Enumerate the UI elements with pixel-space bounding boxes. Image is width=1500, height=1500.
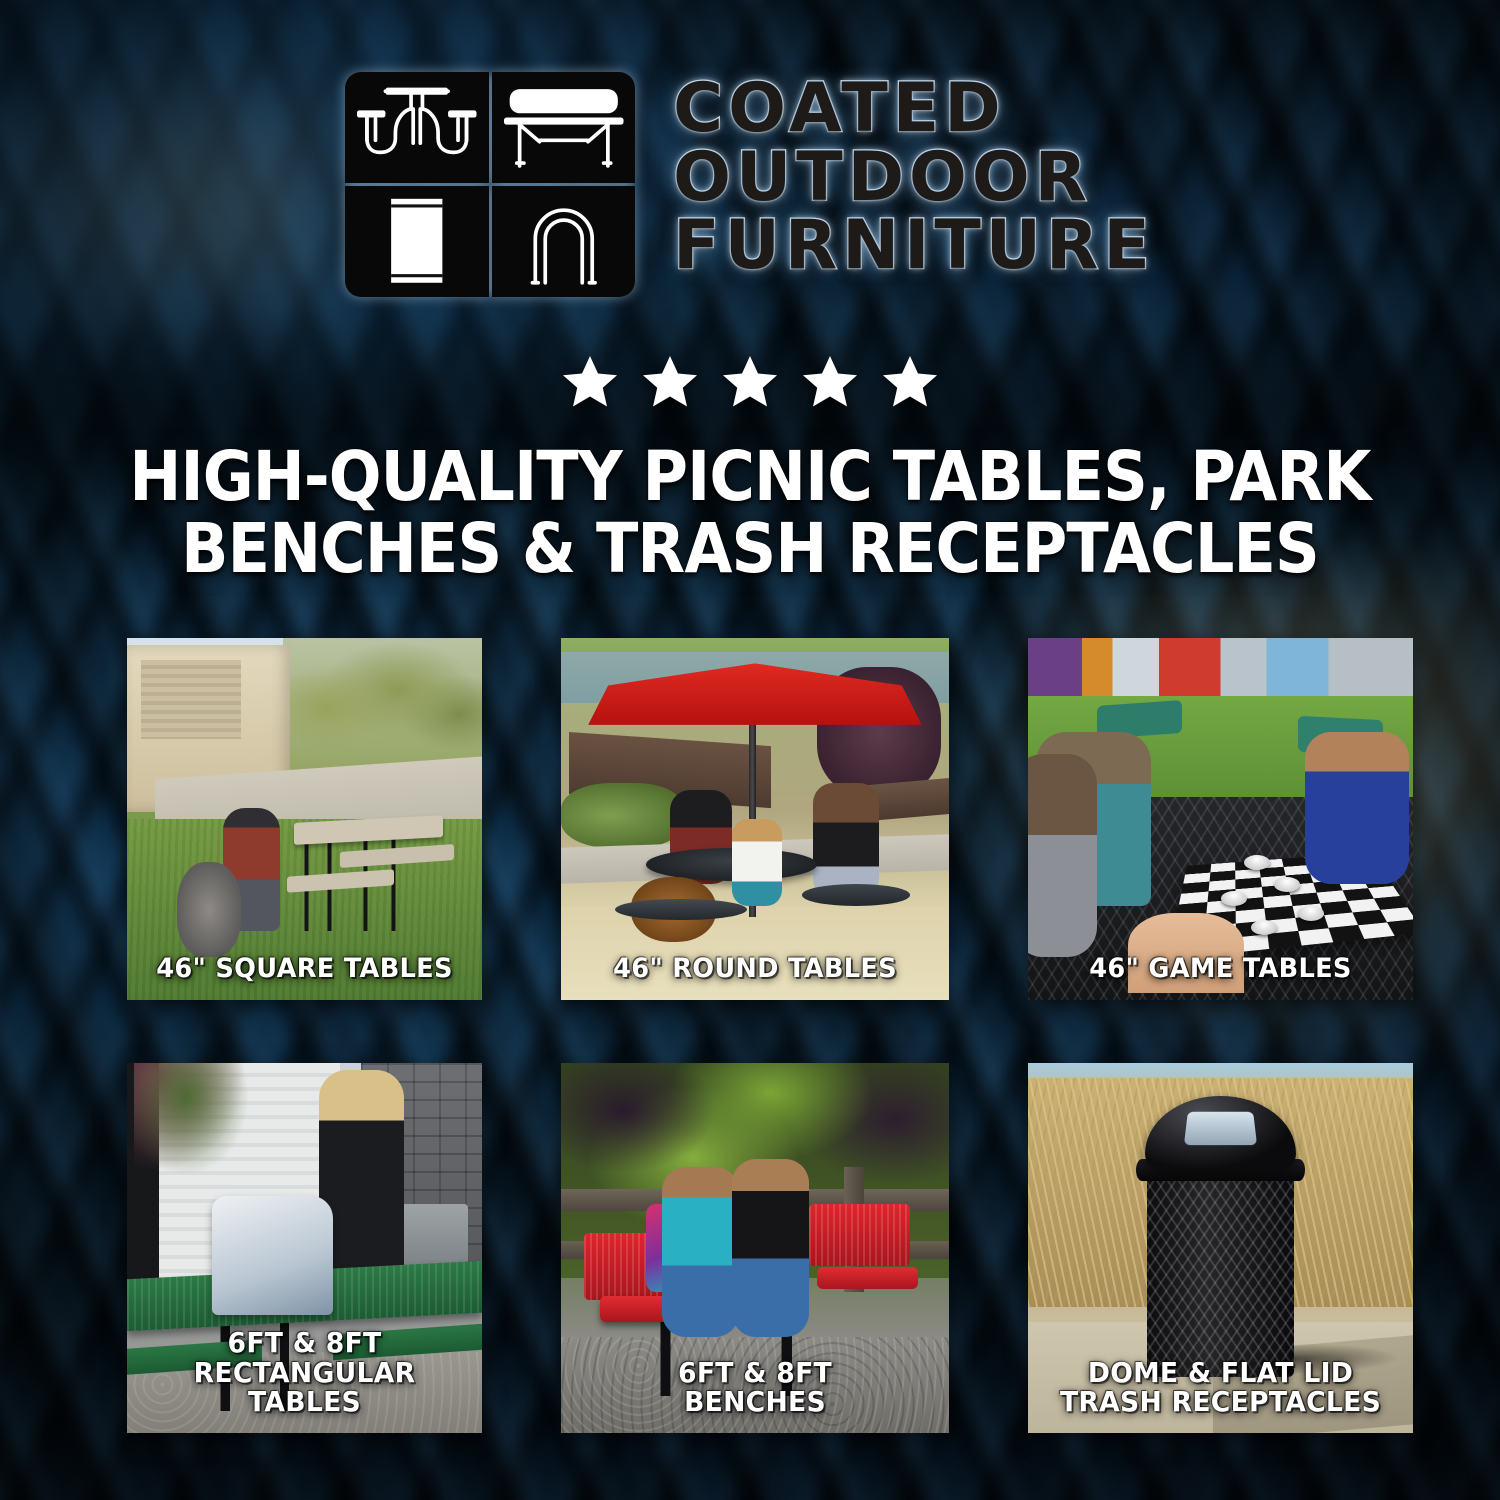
logo-line-3: FURNITURE [673, 213, 1155, 280]
caption-line-1: 6FT & 8FT [143, 1328, 465, 1358]
product-caption: DOME & FLAT LID TRASH RECEPTACLES [1038, 1358, 1404, 1433]
bike-rack-icon [492, 186, 636, 297]
product-caption: 46" SQUARE TABLES [136, 955, 473, 1000]
picnic-table-icon [345, 72, 489, 183]
headline-line-1: HIGH-QUALITY PICNIC TABLES, PARK [129, 442, 1371, 514]
caption-line-1: 46" GAME TABLES [1045, 955, 1396, 984]
photo-game-tables [1028, 638, 1413, 1000]
promo-banner: COATED OUTDOOR FURNITURE HIGH-QUALITY PI… [0, 0, 1500, 1500]
trash-receptacle-icon [345, 186, 489, 297]
product-tile-game-tables[interactable]: 46" GAME TABLES [1028, 638, 1413, 1000]
park-bench-icon [492, 72, 636, 183]
caption-line-1: 6FT & 8FT [578, 1358, 931, 1388]
logo-line-2: OUTDOOR [673, 145, 1155, 212]
logo-icon-grid [345, 72, 635, 297]
product-caption: 6FT & 8FT RECTANGULAR TABLES [136, 1328, 473, 1433]
caption-line-1: 46" SQUARE TABLES [143, 955, 465, 984]
caption-line-2: RECTANGULAR TABLES [143, 1358, 465, 1417]
logo-wordmark: COATED OUTDOOR FURNITURE [673, 72, 1155, 280]
star-icon [559, 352, 621, 412]
star-icon [799, 352, 861, 412]
caption-line-1: 46" ROUND TABLES [578, 955, 931, 984]
star-rating [0, 352, 1500, 412]
brand-logo: COATED OUTDOOR FURNITURE [0, 72, 1500, 297]
logo-line-1: COATED [673, 76, 1155, 143]
product-caption: 46" GAME TABLES [1038, 955, 1404, 1000]
photo-round-tables [561, 638, 949, 1000]
product-caption: 46" ROUND TABLES [571, 955, 940, 1000]
product-grid-row-2: 6FT & 8FT RECTANGULAR TABLES 6FT & 8FT B… [127, 1063, 1383, 1433]
photo-square-tables [127, 638, 482, 1000]
product-grid-row-1: 46" SQUARE TABLES 46" ROUND TABLES [127, 638, 1383, 1000]
star-icon [879, 352, 941, 412]
product-tile-rectangular-tables[interactable]: 6FT & 8FT RECTANGULAR TABLES [127, 1063, 482, 1433]
caption-line-2: BENCHES [578, 1387, 931, 1417]
star-icon [639, 352, 701, 412]
page-title: HIGH-QUALITY PICNIC TABLES, PARK BENCHES… [129, 442, 1371, 586]
product-caption: 6FT & 8FT BENCHES [571, 1358, 940, 1433]
caption-line-1: DOME & FLAT LID [1045, 1358, 1396, 1388]
product-tile-square-tables[interactable]: 46" SQUARE TABLES [127, 638, 482, 1000]
headline-line-2: BENCHES & TRASH RECEPTACLES [129, 514, 1371, 586]
star-icon [719, 352, 781, 412]
product-tile-trash-receptacles[interactable]: DOME & FLAT LID TRASH RECEPTACLES [1028, 1063, 1413, 1433]
product-tile-benches[interactable]: 6FT & 8FT BENCHES [561, 1063, 949, 1433]
product-tile-round-tables[interactable]: 46" ROUND TABLES [561, 638, 949, 1000]
caption-line-2: TRASH RECEPTACLES [1045, 1387, 1396, 1417]
